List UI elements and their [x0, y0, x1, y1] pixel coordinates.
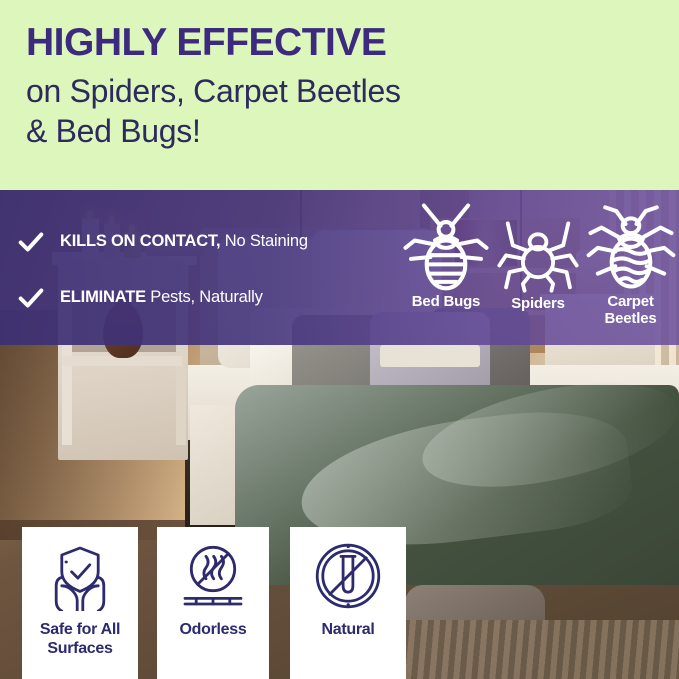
subheadline-line-1: on Spiders, Carpet Beetles — [26, 71, 653, 111]
headline: HIGHLY EFFECTIVE — [26, 22, 653, 64]
bed-bug-icon — [400, 200, 492, 292]
benefit-text-rest: Pests, Naturally — [146, 288, 263, 306]
subheadline-line-2: & Bed Bugs! — [26, 111, 653, 151]
feature-card-odorless: Odorless — [157, 527, 269, 679]
feature-card-safe-for-all-surfaces: Safe for All Surfaces — [22, 527, 138, 679]
pest-label: Bed Bugs — [398, 294, 494, 311]
product-infographic: HIGHLY EFFECTIVE on Spiders, Carpet Beet… — [0, 0, 679, 679]
feature-card-label-line-1: Natural — [321, 621, 374, 640]
pest-carpet-beetles: Carpet Beetles — [582, 200, 679, 328]
benefit-text-rest: No Staining — [220, 232, 308, 250]
benefit-text: ELIMINATE Pests, Naturally — [60, 288, 263, 308]
pest-label: Carpet Beetles — [582, 294, 679, 328]
feature-card-label: Natural — [321, 621, 374, 640]
shield-in-hands-icon — [45, 541, 115, 611]
subheadline: on Spiders, Carpet Beetles & Bed Bugs! — [26, 71, 653, 151]
feature-card-label-line-1: Odorless — [180, 621, 247, 640]
pest-icon-group: Bed Bugs — [396, 198, 679, 343]
feature-card-label: Odorless — [180, 621, 247, 640]
pest-label-line-2: Beetles — [582, 311, 679, 328]
feature-card-label-line-2: Surfaces — [40, 640, 120, 659]
carpet-beetle-icon — [585, 200, 677, 292]
benefit-text-bold: KILLS ON CONTACT, — [60, 232, 220, 250]
feature-card-label-line-1: Safe for All — [40, 621, 120, 640]
no-chemicals-test-tube-icon — [313, 541, 383, 611]
feature-card-natural: Natural — [290, 527, 406, 679]
benefits-list: KILLS ON CONTACT, No Staining ELIMINATE … — [16, 214, 406, 326]
benefit-item: KILLS ON CONTACT, No Staining — [16, 214, 406, 270]
feature-card-label: Safe for All Surfaces — [40, 621, 120, 659]
benefits-banner: KILLS ON CONTACT, No Staining ELIMINATE … — [0, 190, 679, 345]
pest-bed-bugs: Bed Bugs — [398, 200, 494, 311]
pest-spiders: Spiders — [492, 210, 584, 313]
benefit-item: ELIMINATE Pests, Naturally — [16, 270, 406, 326]
header-section: HIGHLY EFFECTIVE on Spiders, Carpet Beet… — [0, 0, 679, 190]
benefit-text: KILLS ON CONTACT, No Staining — [60, 232, 308, 252]
pest-label-line-1: Carpet — [582, 294, 679, 311]
benefit-text-bold: ELIMINATE — [60, 288, 146, 306]
checkmark-icon — [16, 283, 46, 313]
pest-label: Spiders — [492, 296, 584, 313]
no-odor-icon — [178, 541, 248, 611]
spider-icon — [496, 210, 580, 294]
pillow-band — [380, 345, 480, 367]
feature-cards: Safe for All Surfaces — [0, 527, 679, 679]
checkmark-icon — [16, 227, 46, 257]
